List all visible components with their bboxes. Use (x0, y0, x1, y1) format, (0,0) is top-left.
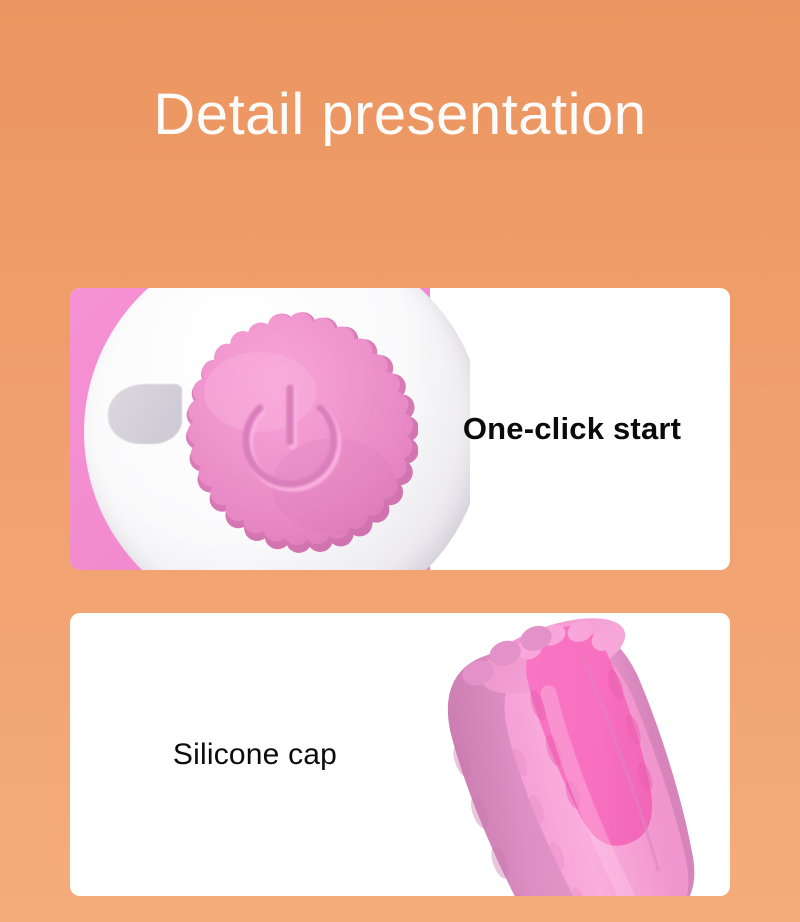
feature-card-one-click-start[interactable]: One-click start (70, 288, 730, 570)
card-label-one-click-start: One-click start (438, 411, 706, 447)
scalloped-power-button (166, 310, 418, 562)
silicone-cap-illustration (400, 613, 730, 896)
power-button-photo (70, 288, 470, 570)
feature-card-silicone-cap[interactable]: Silicone cap (70, 613, 730, 896)
card-label-silicone-cap: Silicone cap (120, 738, 390, 772)
product-detail-page: Detail presentation (0, 0, 800, 922)
silicone-cap-photo (400, 613, 730, 896)
page-title: Detail presentation (0, 84, 800, 146)
